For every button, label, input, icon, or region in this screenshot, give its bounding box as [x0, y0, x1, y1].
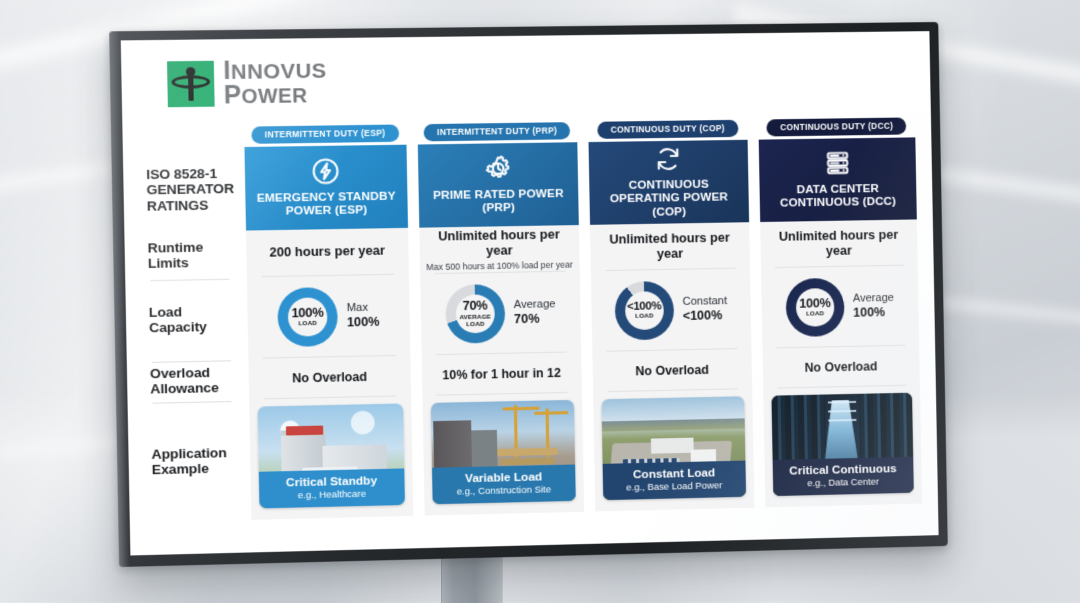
slide-content: INNOVUS POWER INTERMITTENT DUTY (ESP)INT… [121, 31, 939, 555]
overload-cell-esp: No Overload [248, 356, 410, 400]
caption-sub-esp: e.g., Healthcare [263, 488, 400, 502]
donut-percent-cop: <100% [627, 301, 661, 313]
overload-cell-prp: 10% for 1 hour in 12 [421, 352, 582, 396]
column-title-cop: CONTINUOUS OPERATING POWER (COP) [593, 177, 744, 220]
brand-name-line1: NNOVUS [231, 59, 327, 84]
studio-scene: INNOVUS POWER INTERMITTENT DUTY (ESP)INT… [0, 0, 1080, 603]
donut-sublabel-esp: LOAD [298, 321, 317, 328]
row-label-application-example: Application Example [150, 400, 240, 522]
load-donut-dcc: 100%LOAD [785, 278, 844, 337]
innovus-tower-icon [167, 61, 215, 108]
column-title-prp: PRIME RATED POWER (PRP) [422, 186, 574, 216]
load-text-value-esp: 100% [347, 315, 380, 331]
runtime-main-prp: Unlimited hours per year [425, 227, 573, 260]
overload-value-esp: No Overload [292, 370, 367, 386]
construction-photo: Variable Loade.g., Construction Site [430, 400, 576, 504]
overload-value-dcc: No Overload [805, 359, 878, 375]
load-cell-esp: 100%LOADMax100% [247, 275, 410, 359]
brand-logo: INNOVUS POWER [167, 51, 913, 108]
donut-percent-esp: 100% [291, 306, 323, 319]
row-label-load-capacity: Load Capacity [148, 278, 237, 361]
load-text-primary-dcc: Average [853, 292, 894, 306]
monitor-screen: INNOVUS POWER INTERMITTENT DUTY (ESP)INT… [121, 31, 939, 555]
gear-clock-icon [482, 153, 513, 184]
base-load-plant-photo: Constant Loade.g., Base Load Power [601, 396, 745, 500]
runtime-main-dcc: Unlimited hours per year [766, 227, 912, 260]
runtime-cell-prp: Unlimited hours per yearMax 500 hours at… [419, 225, 580, 274]
column-title-esp: EMERGENCY STANDBY POWER (ESP) [249, 189, 403, 219]
runtime-sub-prp: Max 500 hours at 100% load per year [426, 260, 573, 273]
overload-value-cop: No Overload [635, 363, 709, 379]
runtime-cell-esp: 200 hours per year [246, 228, 408, 278]
lightning-bolt-circle-icon [310, 155, 342, 186]
donut-percent-dcc: 100% [799, 297, 830, 310]
donut-sublabel-prp: AVERAGELOAD [459, 313, 491, 328]
runtime-cell-cop: Unlimited hours per year [590, 222, 749, 271]
load-cell-cop: <100%LOADConstant<100% [591, 268, 751, 352]
server-rack-icon [822, 148, 853, 179]
brand-name-line2-initial: P [224, 81, 242, 110]
row-label-iso-ratings: ISO 8528-1 GENERATOR RATINGS [146, 147, 235, 232]
load-donut-prp: 70%AVERAGELOAD [445, 284, 505, 344]
donut-sublabel-dcc: LOAD [806, 311, 824, 318]
brand-name-line2: OWER [241, 85, 307, 108]
grid-spacer [145, 127, 233, 149]
duty-pill-dcc: CONTINUOUS DUTY (DCC) [767, 117, 906, 136]
application-cell-prp: Variable Loade.g., Construction Site [422, 393, 584, 516]
application-cell-cop: Constant Loade.g., Base Load Power [593, 389, 754, 511]
column-header-dcc: DATA CENTER CONTINUOUS (DCC) [758, 137, 917, 222]
duty-pill-esp: INTERMITTENT DUTY (ESP) [251, 125, 399, 144]
load-text-value-dcc: 100% [853, 305, 894, 321]
application-cell-dcc: Critical Continuouse.g., Data Center [763, 386, 922, 508]
brand-name: INNOVUS POWER [223, 58, 327, 108]
caption-sub-dcc: e.g., Data Center [777, 476, 910, 490]
load-text-primary-cop: Constant [682, 295, 727, 309]
overload-value-prp: 10% for 1 hour in 12 [442, 366, 561, 383]
column-header-prp: PRIME RATED POWER (PRP) [417, 142, 579, 227]
load-cell-prp: 70%AVERAGELOADAverage70% [420, 271, 582, 355]
runtime-main-esp: 200 hours per year [269, 244, 385, 261]
load-text-value-cop: <100% [683, 308, 728, 324]
duty-pill-cop: CONTINUOUS DUTY (COP) [597, 120, 738, 139]
column-header-esp: EMERGENCY STANDBY POWER (ESP) [244, 145, 407, 231]
load-donut-cop: <100%LOAD [614, 281, 674, 341]
column-title-dcc: DATA CENTER CONTINUOUS (DCC) [763, 181, 913, 210]
ratings-comparison-grid: INTERMITTENT DUTY (ESP)INTERMITTENT DUTY… [145, 117, 922, 546]
runtime-cell-dcc: Unlimited hours per year [760, 219, 918, 268]
donut-percent-prp: 70% [462, 299, 487, 312]
caption-sub-prp: e.g., Construction Site [436, 484, 572, 498]
overload-cell-dcc: No Overload [762, 345, 920, 388]
hospital-photo: Critical Standbye.g., Healthcare [258, 404, 405, 509]
row-label-runtime-limits: Runtime Limits [147, 231, 235, 279]
load-text-primary-esp: Max [346, 301, 379, 315]
runtime-main-cop: Unlimited hours per year [596, 230, 743, 263]
application-cell-esp: Critical Standbye.g., Healthcare [249, 396, 413, 520]
overload-cell-cop: No Overload [592, 349, 751, 393]
caption-sub-cop: e.g., Base Load Power [607, 480, 741, 494]
data-center-photo: Critical Continuouse.g., Data Center [771, 393, 914, 496]
duty-pill-prp: INTERMITTENT DUTY (PRP) [424, 122, 571, 141]
load-donut-esp: 100%LOAD [277, 287, 338, 347]
column-header-cop: CONTINUOUS OPERATING POWER (COP) [589, 140, 749, 225]
load-text-primary-prp: Average [514, 298, 556, 312]
load-cell-dcc: 100%LOADAverage100% [761, 265, 920, 348]
monitor-bezel: INNOVUS POWER INTERMITTENT DUTY (ESP)INT… [109, 22, 948, 567]
row-label-overload-allowance: Overload Allowance [150, 359, 238, 402]
load-text-value-prp: 70% [514, 311, 556, 327]
refresh-cycle-icon [653, 144, 684, 175]
donut-sublabel-cop: LOAD [635, 314, 653, 321]
monitor: INNOVUS POWER INTERMITTENT DUTY (ESP)INT… [109, 22, 948, 567]
